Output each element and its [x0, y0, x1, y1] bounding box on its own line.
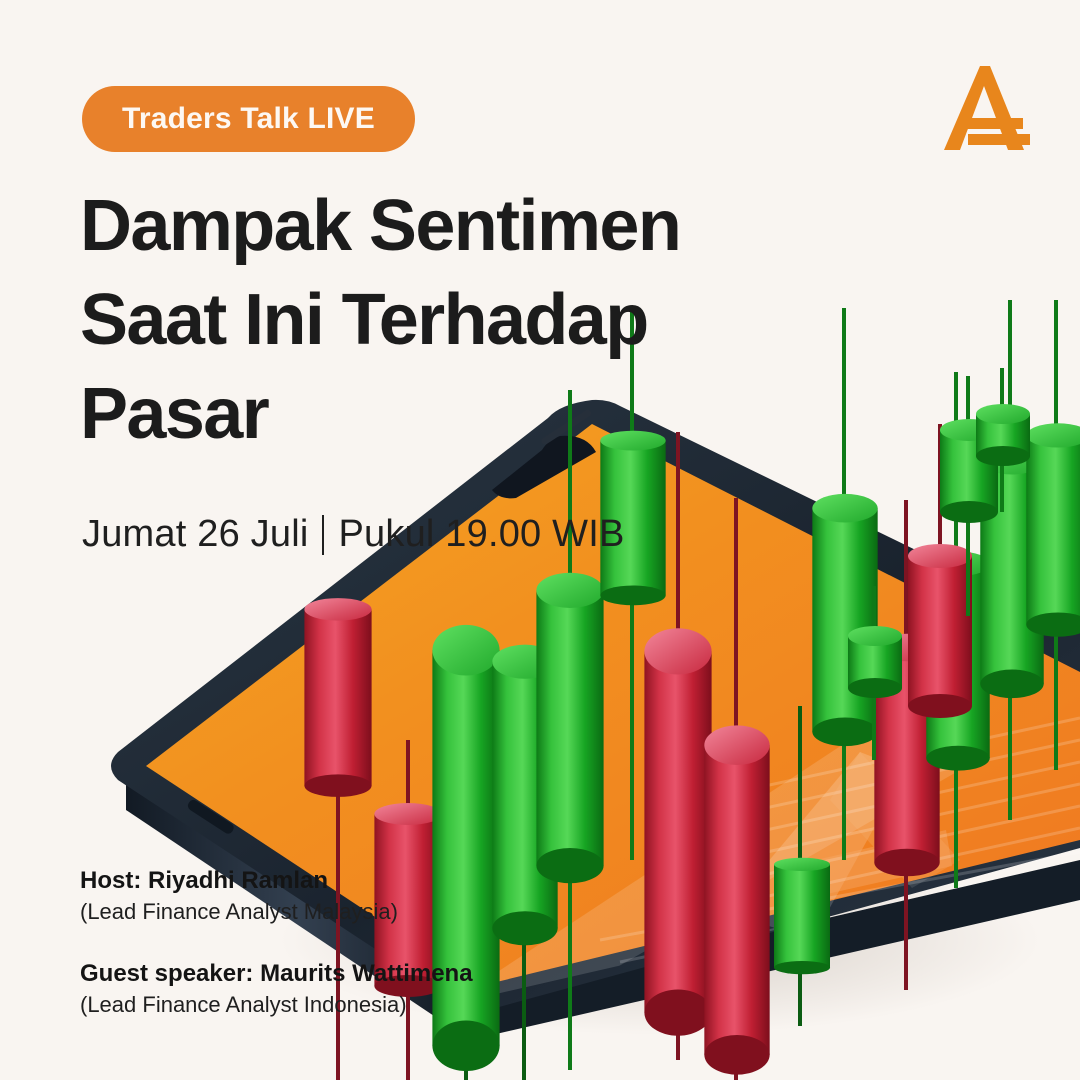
credit-host-role: (Lead Finance Analyst Malaysia)	[80, 898, 550, 927]
credit-host-name: Host: Riyadhi Ramlan	[80, 866, 550, 896]
headline-line-2: Saat Ini Terhadap	[80, 284, 840, 356]
traders-talk-live-badge[interactable]: Traders Talk LIVE	[82, 86, 415, 152]
schedule-date: Jumat 26 Juli	[82, 513, 308, 556]
credits-block: Host: Riyadhi Ramlan (Lead Finance Analy…	[80, 866, 550, 1019]
credit-guest: Guest speaker: Maurits Wattimena (Lead F…	[80, 959, 550, 1020]
badge-label: Traders Talk LIVE	[122, 102, 375, 136]
brand-a-logo-icon	[928, 58, 1038, 168]
credit-guest-role: (Lead Finance Analyst Indonesia)	[80, 991, 550, 1020]
schedule-separator	[322, 515, 324, 555]
page-title: Dampak Sentimen Saat Ini Terhadap Pasar	[80, 190, 840, 472]
headline-line-3: Pasar	[80, 378, 840, 450]
credit-guest-name: Guest speaker: Maurits Wattimena	[80, 959, 550, 989]
credit-host: Host: Riyadhi Ramlan (Lead Finance Analy…	[80, 866, 550, 927]
schedule-time: Pukul 19.00 WIB	[338, 513, 624, 556]
schedule-line: Jumat 26 Juli Pukul 19.00 WIB	[82, 513, 625, 556]
headline-line-1: Dampak Sentimen	[80, 190, 840, 262]
poster-canvas: Traders Talk LIVE Dampak Sentimen Saat I…	[0, 0, 1080, 1080]
